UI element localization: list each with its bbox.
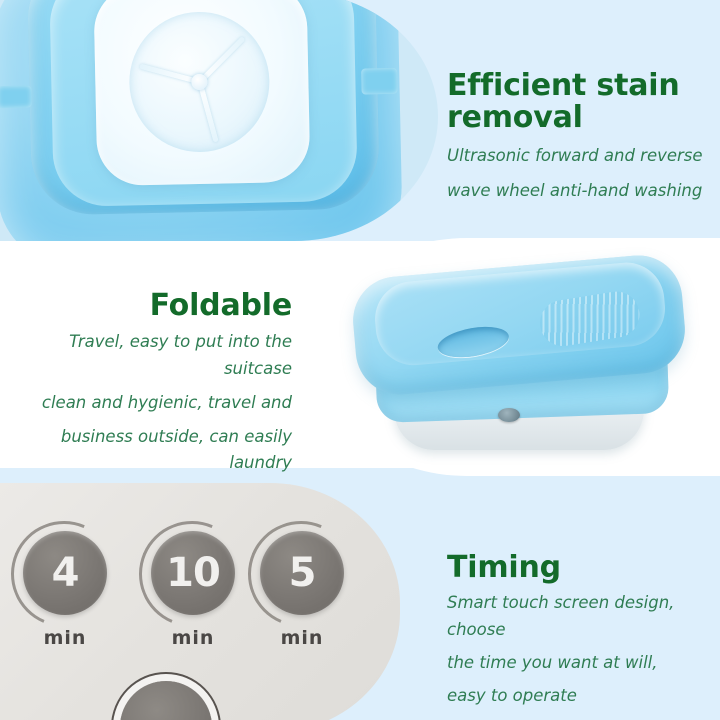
feature-description-line: clean and hygienic, travel and xyxy=(6,390,292,417)
pulsator-hub xyxy=(191,74,207,90)
drain-knob xyxy=(498,408,520,422)
tub-clip-right xyxy=(361,68,398,95)
feature-description-line: Travel, easy to put into the suitcase xyxy=(6,329,292,382)
timer-button-4min[interactable]: 4 min xyxy=(23,531,107,615)
timer-value: 5 xyxy=(289,553,316,593)
feature-heading: Foldable xyxy=(6,290,292,322)
timer-button-5min[interactable]: 5 min xyxy=(260,531,344,615)
timer-value: 4 xyxy=(52,553,79,593)
timer-value: 10 xyxy=(166,553,220,593)
power-button[interactable] xyxy=(120,681,212,720)
pulsator-blade xyxy=(197,81,218,142)
timer-knob[interactable]: 4 xyxy=(23,531,107,615)
timer-unit-label: min xyxy=(260,627,344,649)
feature-description-line: wave wheel anti-hand washing xyxy=(447,178,709,205)
tub-clip-left xyxy=(0,85,32,108)
feature-text-timing: Timing Smart touch screen design, choose… xyxy=(447,552,709,709)
feature-description-line: Smart touch screen design, choose xyxy=(447,590,709,643)
tub-outer-rim xyxy=(0,0,403,241)
feature-description-line: the time you want at will, xyxy=(447,650,709,677)
feature-description-line: business outside, can easily laundry xyxy=(6,424,292,477)
lid-top-surface xyxy=(372,259,668,368)
feature-text-foldable: Foldable Travel, easy to put into the su… xyxy=(6,290,292,477)
washer-tub-top-view-photo xyxy=(0,0,438,241)
timer-button-row: 4 min 10 min 5 min xyxy=(0,523,388,643)
feature-description-line: easy to operate xyxy=(447,683,709,710)
folded-washer-body xyxy=(346,248,698,458)
timer-unit-label: min xyxy=(151,627,235,649)
feature-heading: Timing xyxy=(447,552,709,584)
feature-heading: Efficient stain removal xyxy=(447,70,709,135)
feature-text-efficient-stain-removal: Efficient stain removal Ultrasonic forwa… xyxy=(447,70,709,204)
product-feature-infographic: Efficient stain removal Ultrasonic forwa… xyxy=(0,0,720,720)
timer-button-10min[interactable]: 10 min xyxy=(151,531,235,615)
lid-ridges xyxy=(537,288,643,349)
timer-knob[interactable]: 10 xyxy=(151,531,235,615)
control-panel-photo: 4 min 10 min 5 min xyxy=(0,483,400,720)
feature-description-line: Ultrasonic forward and reverse xyxy=(447,143,709,170)
timer-knob[interactable]: 5 xyxy=(260,531,344,615)
timer-unit-label: min xyxy=(23,627,107,649)
folded-washer-photo xyxy=(318,238,720,476)
